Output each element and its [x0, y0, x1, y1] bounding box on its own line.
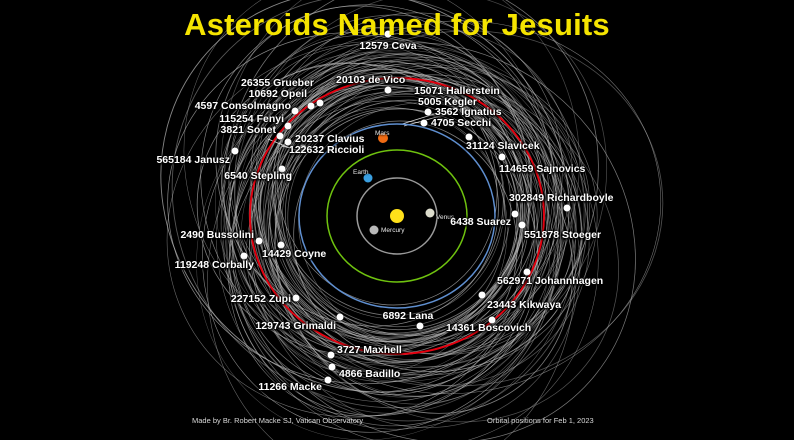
asteroid-marker	[232, 148, 239, 155]
asteroid-marker	[329, 364, 336, 371]
asteroid-label: 14429 Coyne	[262, 249, 326, 260]
asteroid-label: 6892 Lana	[383, 311, 434, 322]
asteroid-marker	[519, 222, 526, 229]
asteroid-label: 129743 Grimaldi	[255, 321, 336, 332]
asteroid-label: 122632 Riccioli	[289, 145, 364, 156]
planet-venus-body	[426, 209, 435, 218]
slide-canvas: Asteroids Named for Jesuits MercuryVenus…	[0, 0, 794, 440]
asteroid-marker	[277, 133, 284, 140]
asteroid-label: 23443 Kikwaya	[487, 300, 561, 311]
asteroid-label: 562971 Johannhagen	[497, 276, 603, 287]
asteroid-label: 565184 Janusz	[156, 155, 230, 166]
asteroid-marker	[479, 292, 486, 299]
asteroid-label: 3821 Sonet	[221, 125, 276, 136]
asteroid-label: 6438 Suarez	[450, 217, 511, 228]
asteroid-marker	[385, 87, 392, 94]
asteroid-marker	[417, 323, 424, 330]
asteroid-marker	[325, 377, 332, 384]
asteroid-marker	[337, 314, 344, 321]
asteroid-label: 3727 Maxhell	[337, 345, 402, 356]
page-title: Asteroids Named for Jesuits	[0, 8, 794, 42]
asteroid-marker	[285, 123, 292, 130]
planet-mercury-body	[370, 226, 379, 235]
asteroid-label: 119248 Corbally	[175, 260, 254, 271]
asteroid-label: 551878 Stoeger	[524, 230, 601, 241]
asteroid-marker	[425, 109, 432, 116]
asteroid-marker	[499, 154, 506, 161]
asteroid-label: 115254 Fenyi	[219, 114, 284, 125]
asteroid-marker	[564, 205, 571, 212]
planet-mercury-label: Mercury	[381, 228, 404, 235]
planet-mars-label: Mars	[375, 131, 389, 138]
asteroid-label: 3562 Ignatius	[435, 107, 502, 118]
footer-epoch: Orbital positions for Feb 1, 2023	[487, 416, 594, 425]
asteroid-label: 4866 Badillo	[339, 369, 400, 380]
asteroid-label: 31124 Slavicek	[466, 141, 540, 152]
asteroid-label: 20103 de Vico	[336, 75, 405, 86]
asteroid-marker	[421, 120, 428, 127]
asteroid-marker	[328, 352, 335, 359]
asteroid-label: 26355 Grueber	[241, 78, 314, 89]
asteroid-label: 4597 Consolmagno	[195, 101, 291, 112]
asteroid-label: 12579 Ceva	[359, 41, 416, 52]
asteroid-label: 6540 Stepling	[224, 171, 292, 182]
asteroid-label: 11266 Macke	[258, 382, 322, 393]
asteroid-label: 4705 Secchi	[431, 118, 491, 129]
asteroid-label: 227152 Zupi	[231, 294, 291, 305]
asteroid-marker	[308, 103, 315, 110]
sun-body	[390, 209, 404, 223]
asteroid-label: 302849 Richardboyle	[509, 193, 613, 204]
asteroid-label: 2490 Bussolini	[180, 230, 254, 241]
asteroid-marker	[292, 108, 299, 115]
asteroid-marker	[293, 295, 300, 302]
asteroid-label: 10692 Opeil	[249, 89, 307, 100]
asteroid-marker	[512, 211, 519, 218]
planet-earth-label: Earth	[353, 170, 369, 177]
asteroid-label: 20237 Clavius	[295, 134, 364, 145]
asteroid-label: 15071 Hallerstein	[414, 86, 500, 97]
asteroid-label: 14361 Boscovich	[446, 323, 531, 334]
asteroid-marker	[317, 100, 324, 107]
asteroid-label: 114659 Sajnovics	[499, 164, 585, 175]
footer-credit: Made by Br. Robert Macke SJ, Vatican Obs…	[192, 416, 363, 425]
asteroid-marker	[256, 238, 263, 245]
